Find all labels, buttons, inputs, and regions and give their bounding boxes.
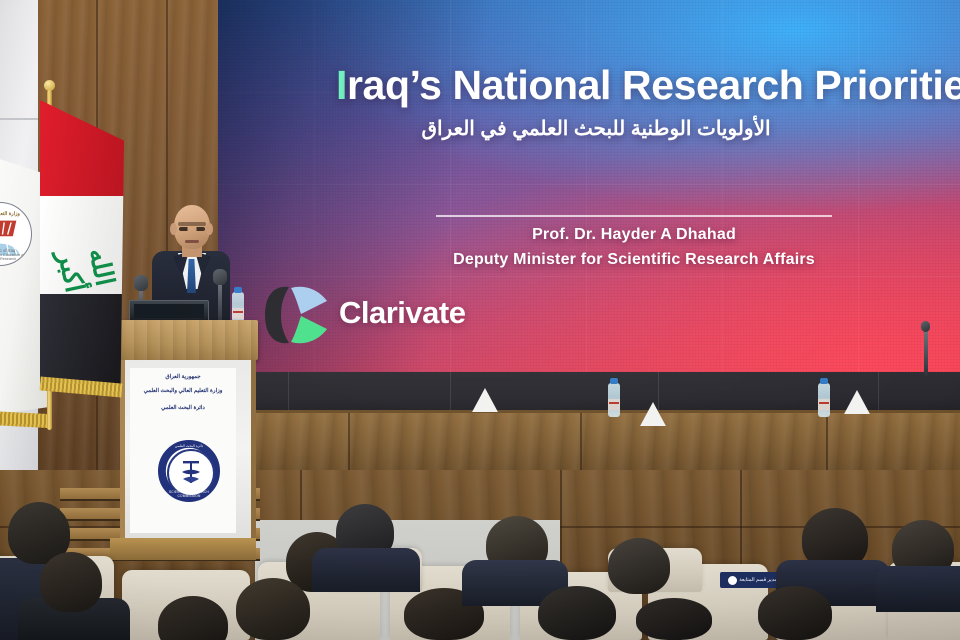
slide-subtitle-arabic: الأولويات الوطنية للبحث العلمي في العراق xyxy=(336,116,856,141)
photo-scene: Iraq’s National Research Priorities الأو… xyxy=(0,0,960,640)
audience-head xyxy=(608,538,670,594)
slide-title: Iraq’s National Research Priorities xyxy=(336,62,960,109)
slide-speaker-name: Prof. Dr. Hayder A Dhahad xyxy=(406,226,862,244)
seat-name-plate: مدير قسم المتابعة xyxy=(720,572,780,588)
speaker-brows xyxy=(178,222,206,226)
slide-speaker-role: Deputy Minister for Scientific Research … xyxy=(386,251,882,269)
iraq-flag-cloth: الله أكبر xyxy=(40,100,124,390)
podium-water-bottle xyxy=(232,292,244,322)
slide-title-rest: raq’s National Research Priorities xyxy=(347,62,960,108)
speaker-mouth xyxy=(185,240,199,243)
audience-shoulders xyxy=(876,566,960,612)
stage-microphone-stand xyxy=(924,330,928,376)
slide-title-accent-letter: I xyxy=(336,62,347,108)
speaker-ear-right xyxy=(206,223,213,235)
plate-logo-icon xyxy=(728,576,737,585)
audience-shoulders xyxy=(312,548,420,592)
scientific-research-commission-seal: دائرة البحث العلمي SCIENTIFIC RESEARCH C… xyxy=(158,440,220,502)
slide-divider-rule xyxy=(436,215,832,217)
podium-microphone-right xyxy=(218,282,222,322)
audience-head xyxy=(236,578,310,640)
audience-head xyxy=(538,586,616,640)
iraq-flag: الله أكبر xyxy=(26,92,136,422)
clarivate-logo: Clarivate xyxy=(261,281,461,351)
seal-emblem-icon xyxy=(181,460,201,486)
iraq-flag-inscription: الله أكبر xyxy=(40,198,124,298)
podium-base xyxy=(110,538,256,560)
podium-sign-line-2: وزارة التعليم العالي والبحث العلمي xyxy=(130,388,236,394)
audience-head xyxy=(40,552,102,612)
plate-text: مدير قسم المتابعة xyxy=(739,577,777,583)
seal-text-arabic: دائرة البحث العلمي xyxy=(160,444,218,448)
water-bottle xyxy=(608,383,620,417)
speaker-ear-left xyxy=(170,223,177,235)
seal-text-english: SCIENTIFIC RESEARCH COMMISSION xyxy=(160,490,218,498)
podium-sign-line-1: جمهورية العراق xyxy=(130,374,236,380)
audience-head xyxy=(636,598,712,640)
clarivate-mark-icon xyxy=(261,281,333,349)
clarivate-wordmark: Clarivate xyxy=(339,295,465,331)
speaker-eyes xyxy=(179,227,205,231)
podium-sign: جمهورية العراق وزارة التعليم العالي والب… xyxy=(130,368,236,533)
audience-head xyxy=(758,586,832,640)
podium-sign-line-3: دائرة البحث العلمي xyxy=(130,405,236,411)
water-bottle xyxy=(818,383,830,417)
